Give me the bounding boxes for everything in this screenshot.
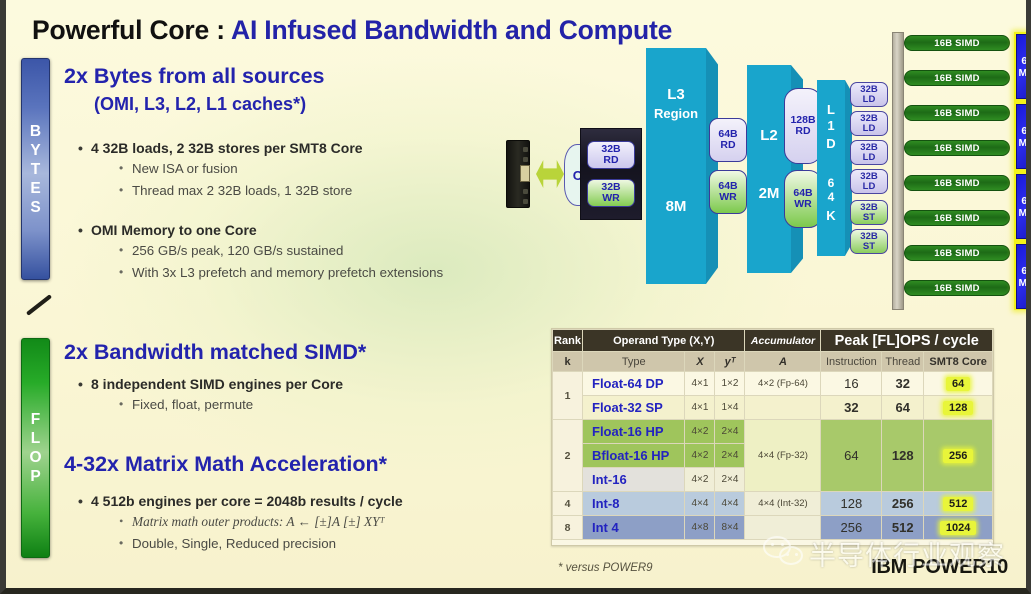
- row-6-instruction: 256: [821, 516, 882, 540]
- simd-bar-6: 16B SIMD: [904, 245, 1010, 261]
- simd-bus: [892, 32, 904, 310]
- row-4-type: Int-16: [583, 468, 685, 492]
- row-1-yt: 1×4: [715, 396, 745, 420]
- simd-bar-4: 16B SIMD: [904, 175, 1010, 191]
- l3-label-3: 8M: [646, 198, 706, 215]
- sub-header-instruction: Instruction: [821, 352, 882, 372]
- row-1-thread: 64: [882, 396, 924, 420]
- l1-dcache-block: L 1 D 6 4 K: [817, 80, 845, 256]
- ldst-box-4: 32B ST: [850, 200, 888, 225]
- mma-block-3: 64B MMA: [1016, 244, 1031, 309]
- simd-bar-5: 16B SIMD: [904, 210, 1010, 226]
- sub-header-smt8: SMT8 Core: [924, 352, 993, 372]
- section-3-bullet-2: Double, Single, Reduced precision: [132, 536, 336, 551]
- section-3-bullet-0: 4 512b engines per core = 2048b results …: [91, 493, 403, 509]
- mem-port-rd: 32B RD: [587, 141, 635, 169]
- row-1-type: Float-32 SP: [583, 396, 685, 420]
- l3-port-wr: 64B WR: [709, 170, 747, 214]
- bytes-letter-3: E: [30, 179, 40, 198]
- section-1-heading: 2x Bytes from all sources: [64, 64, 325, 89]
- row-2-yt: 2×4: [715, 420, 745, 444]
- simd-bar-1: 16B SIMD: [904, 70, 1010, 86]
- row-6-thread: 512: [882, 516, 924, 540]
- row-5-rank: 4: [553, 492, 583, 516]
- section-1-bullet-2: Thread max 2 32B loads, 1 32B store: [132, 183, 352, 198]
- memory-controller-block: 32B RD 32B WR: [580, 128, 642, 220]
- brand-label: IBM POWER10: [871, 556, 1008, 579]
- table-group-header-row: Rank Operand Type (X,Y) Accumulator Peak…: [553, 330, 993, 352]
- ldst-box-3: 32B LD: [850, 169, 888, 194]
- row-6-smt8: 1024: [924, 516, 993, 540]
- row-2-x: 4×2: [685, 420, 715, 444]
- row-5-thread: 256: [882, 492, 924, 516]
- table-sub-header-row: k Type X yᵀ A Instruction Thread SMT8 Co…: [553, 352, 993, 372]
- table-row: 2 Float-16 HP 4×2 2×4 4×4 (Fp-32) 64 128…: [553, 420, 993, 444]
- row-6-acc: [745, 516, 821, 540]
- section-2-bullet-1: Fixed, float, permute: [132, 397, 253, 412]
- ldst-3-size: 32B: [860, 172, 877, 182]
- mma-0-line1: 64B: [1021, 55, 1031, 67]
- ldst-1-op: LD: [863, 124, 876, 134]
- l3-port-wr-dir: WR: [719, 192, 737, 203]
- flop-letter-1: L: [31, 429, 40, 448]
- ldst-0-size: 32B: [860, 85, 877, 95]
- ldst-box-5: 32B ST: [850, 229, 888, 254]
- section-3-bullet-1: Matrix math outer products: A ← [±]A [±]…: [132, 514, 385, 530]
- bytes-axis-bar: B Y T E S: [21, 58, 50, 280]
- slash-icon: [24, 292, 50, 318]
- group-header-peak: Peak [FL]OPS / cycle: [821, 330, 993, 352]
- row-1-smt8: 128: [924, 396, 993, 420]
- flop-axis-bar: F L O P: [21, 338, 50, 558]
- row-0-smt8-value: 64: [946, 377, 970, 391]
- l3-label-2: Region: [646, 106, 706, 121]
- mma-2-line2: MMA: [1018, 207, 1031, 219]
- bidirectional-arrow-icon: [536, 160, 564, 188]
- ldst-box-2: 32B LD: [850, 140, 888, 165]
- bytes-letter-0: B: [30, 122, 41, 141]
- ldst-2-op: LD: [863, 153, 876, 163]
- row-0-rank: 1: [553, 372, 583, 420]
- group-header-operand: Operand Type (X,Y): [583, 330, 745, 352]
- title-prefix: Powerful Core :: [32, 15, 231, 45]
- sub-header-a: A: [745, 352, 821, 372]
- row-4-yt: 2×4: [715, 468, 745, 492]
- row-0-yt: 1×2: [715, 372, 745, 396]
- row-0-acc: 4×2 (Fp-64): [745, 372, 821, 396]
- row-6-x: 4×8: [685, 516, 715, 540]
- slide: Powerful Core : AI Infused Bandwidth and…: [0, 0, 1031, 594]
- mma-block-1: 64B MMA: [1016, 104, 1031, 169]
- simd-bar-3: 16B SIMD: [904, 140, 1010, 156]
- l2-port-rd-dir: RD: [795, 126, 810, 137]
- core-bandwidth-diagram: OMI 32B RD 32B WR L3 Region 8M 64B RD 64…: [498, 18, 1031, 318]
- l1-char-2: D: [817, 136, 845, 151]
- bytes-letter-2: T: [31, 160, 40, 179]
- table-row: 4 Int-8 4×4 4×4 4×4 (Int-32) 128 256 512: [553, 492, 993, 516]
- mma-2-line1: 64B: [1021, 195, 1031, 207]
- section-2-bullet-0: 8 independent SIMD engines per Core: [91, 376, 343, 392]
- row-3-yt: 2×4: [715, 444, 745, 468]
- footnote: * versus POWER9: [558, 562, 653, 574]
- section-1-bullet-1: New ISA or fusion: [132, 161, 238, 176]
- bytes-letter-1: Y: [30, 141, 40, 160]
- mem-port-wr-dir: WR: [602, 193, 620, 204]
- ldst-box-1: 32B LD: [850, 111, 888, 136]
- sub-header-k: k: [553, 352, 583, 372]
- row-0-smt8: 64: [924, 372, 993, 396]
- sub-header-x: X: [685, 352, 715, 372]
- row-5-smt8-value: 512: [943, 497, 973, 511]
- sub-header-type: Type: [583, 352, 685, 372]
- table-row: Float-32 SP 4×1 1×4 32 64 128: [553, 396, 993, 420]
- row-0-x: 4×1: [685, 372, 715, 396]
- group-header-accumulator: Accumulator: [745, 330, 821, 352]
- row-5-acc: 4×4 (Int-32): [745, 492, 821, 516]
- l2-port-wr-dir: WR: [794, 199, 812, 210]
- section-1-bullet-0: 4 32B loads, 2 32B stores per SMT8 Core: [91, 140, 363, 156]
- ldst-4-op: ST: [863, 213, 875, 223]
- mma-3-line1: 64B: [1021, 265, 1031, 277]
- row-2-acc: 4×4 (Fp-32): [745, 420, 821, 492]
- flop-letter-3: P: [30, 467, 40, 486]
- ldst-3-op: LD: [863, 182, 876, 192]
- mma-3-line2: MMA: [1018, 277, 1031, 289]
- peak-ops-table: Rank Operand Type (X,Y) Accumulator Peak…: [551, 328, 994, 546]
- section-1-bullet-5: With 3x L3 prefetch and memory prefetch …: [132, 265, 443, 280]
- simd-bar-2: 16B SIMD: [904, 105, 1010, 121]
- table-row: 8 Int 4 4×8 8×4 256 512 1024: [553, 516, 993, 540]
- l3-port-rd: 64B RD: [709, 118, 747, 162]
- section-1-bullet-4: 256 GB/s peak, 120 GB/s sustained: [132, 243, 343, 258]
- ldst-5-op: ST: [863, 242, 875, 252]
- l1-char-4: 4: [817, 190, 845, 204]
- section-2-heading: 2x Bandwidth matched SIMD*: [64, 340, 366, 365]
- row-5-type: Int-8: [583, 492, 685, 516]
- row-2-smt8-value: 256: [943, 449, 973, 463]
- ldst-4-size: 32B: [860, 203, 877, 213]
- memory-dimm-icon: [506, 140, 530, 208]
- row-2-type: Float-16 HP: [583, 420, 685, 444]
- mma-block-0: 64B MMA: [1016, 34, 1031, 99]
- row-3-type: Bfloat-16 HP: [583, 444, 685, 468]
- mma-1-line1: 64B: [1021, 125, 1031, 137]
- row-1-x: 4×1: [685, 396, 715, 420]
- group-header-rank: Rank: [553, 330, 583, 352]
- flop-letter-2: O: [29, 448, 41, 467]
- row-2-rank: 2: [553, 420, 583, 492]
- row-4-x: 4×2: [685, 468, 715, 492]
- section-1-bullet-3: OMI Memory to one Core: [91, 222, 257, 238]
- row-1-instruction: 32: [821, 396, 882, 420]
- mma-block-2: 64B MMA: [1016, 174, 1031, 239]
- mma-0-line2: MMA: [1018, 67, 1031, 79]
- row-5-yt: 4×4: [715, 492, 745, 516]
- row-1-smt8-value: 128: [943, 401, 973, 415]
- flop-letter-0: F: [31, 410, 40, 429]
- row-6-yt: 8×4: [715, 516, 745, 540]
- mma-1-line2: MMA: [1018, 137, 1031, 149]
- row-5-x: 4×4: [685, 492, 715, 516]
- row-6-smt8-value: 1024: [940, 521, 976, 535]
- l1-char-0: L: [817, 102, 845, 117]
- simd-bar-7: 16B SIMD: [904, 280, 1010, 296]
- row-1-acc: [745, 396, 821, 420]
- section-1-subheading: (OMI, L3, L2, L1 caches*): [94, 94, 306, 115]
- row-2-instruction: 64: [821, 420, 882, 492]
- row-6-rank: 8: [553, 516, 583, 540]
- row-2-smt8: 256: [924, 420, 993, 492]
- l3-port-rd-dir: RD: [720, 140, 735, 151]
- row-0-instruction: 16: [821, 372, 882, 396]
- l1-char-1: 1: [817, 118, 845, 133]
- row-3-x: 4×2: [685, 444, 715, 468]
- row-0-type: Float-64 DP: [583, 372, 685, 396]
- ldst-2-size: 32B: [860, 143, 877, 153]
- section-3-heading: 4-32x Matrix Math Acceleration*: [64, 452, 387, 477]
- l3-label-1: L3: [646, 86, 706, 103]
- sub-header-yt: yᵀ: [715, 352, 745, 372]
- sub-header-thread: Thread: [882, 352, 924, 372]
- row-5-smt8: 512: [924, 492, 993, 516]
- row-5-instruction: 128: [821, 492, 882, 516]
- ldst-1-size: 32B: [860, 114, 877, 124]
- bytes-letter-4: S: [30, 198, 40, 217]
- l1-char-3: 6: [817, 176, 845, 190]
- mem-port-rd-dir: RD: [603, 155, 618, 166]
- row-2-thread: 128: [882, 420, 924, 492]
- row-6-type: Int 4: [583, 516, 685, 540]
- l3-cache-block: L3 Region 8M: [646, 48, 706, 284]
- ldst-0-op: LD: [863, 95, 876, 105]
- table-row: 1 Float-64 DP 4×1 1×2 4×2 (Fp-64) 16 32 …: [553, 372, 993, 396]
- ldst-box-0: 32B LD: [850, 82, 888, 107]
- mem-port-wr: 32B WR: [587, 179, 635, 207]
- row-0-thread: 32: [882, 372, 924, 396]
- l1-char-5: K: [817, 208, 845, 223]
- ldst-5-size: 32B: [860, 232, 877, 242]
- simd-bar-0: 16B SIMD: [904, 35, 1010, 51]
